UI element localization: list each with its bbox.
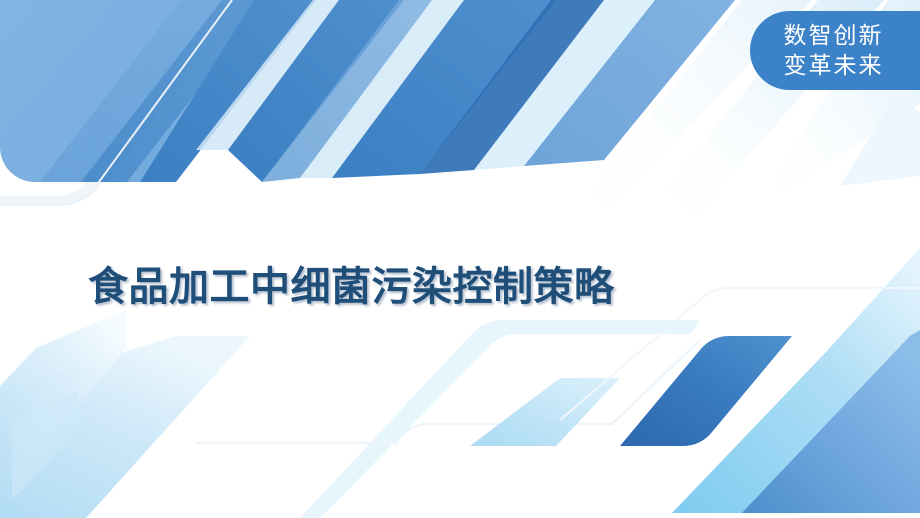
corner-badge: 数智创新 变革未来 <box>750 11 920 90</box>
bottom-right-small-light-triangle <box>470 378 620 446</box>
page-title: 食品加工中细菌污染控制策略 <box>88 262 615 312</box>
badge-line-2: 变革未来 <box>784 51 884 81</box>
title-slide: 数智创新 变革未来 食品加工中细菌污染控制策略 <box>0 0 920 518</box>
top-right-faint-stripe-4 <box>840 96 920 186</box>
bottom-right-deep-parallelogram <box>620 336 792 446</box>
bottom-hairline <box>196 340 700 443</box>
bottom-left-small-wedge <box>12 392 78 500</box>
bottom-right-cyan-band <box>672 248 920 513</box>
bottom-right-blue-triangle-ext <box>742 330 920 513</box>
badge-line-1: 数智创新 <box>784 21 884 51</box>
top-stripe-pale-1 <box>474 0 660 170</box>
top-stripe-dark-2 <box>228 0 404 182</box>
top-stripe-dark-3 <box>332 0 556 178</box>
top-stripe-mid-1 <box>262 0 438 182</box>
bottom-left-light-band <box>0 336 250 518</box>
bottom-right-blue-triangle <box>742 336 910 513</box>
center-light-sweep <box>196 320 700 518</box>
top-stripe-light-1 <box>196 0 345 150</box>
top-stripe-mid-2 <box>524 0 735 166</box>
top-stripe-light-2 <box>300 0 470 178</box>
mid-hairline <box>0 0 232 205</box>
bottom-left-light-wedge <box>0 310 126 500</box>
top-stripe-deep-1 <box>420 0 610 174</box>
top-stripe-dark-1 <box>140 0 316 182</box>
top-left-outline-echo <box>0 0 241 204</box>
